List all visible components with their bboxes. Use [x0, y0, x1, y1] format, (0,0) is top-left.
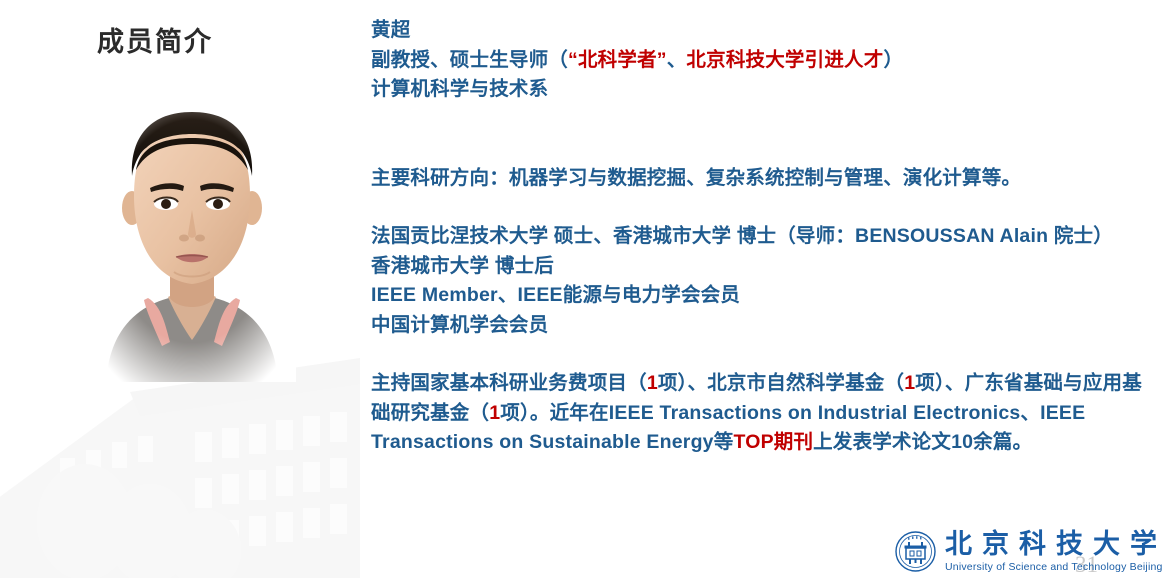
education-line-2: 香港城市大学 博士后	[371, 252, 1161, 282]
research-directions: 主要科研方向：机器学习与数据挖掘、复杂系统控制与管理、演化计算等。	[371, 164, 1161, 194]
projects-and-publications: 主持国家基本科研业务费项目（1项）、北京市自然科学基金（1项）、广东省基础与应用…	[371, 369, 1161, 458]
membership-line-2: 中国计算机学会会员	[371, 311, 1161, 341]
projects-text-1: 主持国家基本科研业务费项目（	[371, 372, 647, 394]
university-logo: 北京科技大学 University of Science and Technol…	[895, 531, 1167, 573]
top-journal-highlight: TOP期刊	[733, 431, 813, 453]
page-title: 成员简介	[97, 26, 213, 58]
campus-building-watermark	[0, 354, 360, 578]
profile-title-prefix: 副教授、硕士生导师（	[371, 49, 568, 71]
project-count-3: 1	[489, 402, 500, 424]
projects-text-2: 项）、北京市自然科学基金（	[658, 372, 904, 394]
project-count-1: 1	[647, 372, 658, 394]
education-line-1: 法国贡比涅技术大学 硕士、香港城市大学 博士（导师：BENSOUSSAN Ala…	[371, 222, 1161, 252]
spacer-2	[371, 193, 1161, 222]
spacer-3	[371, 340, 1161, 369]
university-name-cn: 北京科技大学	[945, 531, 1167, 558]
university-seal-icon	[895, 531, 936, 572]
avatar	[88, 92, 296, 382]
slide-root: 成员简介	[0, 0, 1175, 578]
project-count-2: 1	[904, 372, 915, 394]
profile-department: 计算机科学与技术系	[371, 75, 1161, 105]
profile-title-highlight-1: “北科学者”	[568, 49, 667, 71]
membership-line-1: IEEE Member、IEEE能源与电力学会会员	[371, 281, 1161, 311]
university-logo-text: 北京科技大学 University of Science and Technol…	[945, 531, 1167, 573]
profile-title-highlight-2: 北京科技大学引进人才	[686, 49, 883, 71]
spacer-1	[371, 105, 1161, 164]
profile-title-mid: 、	[667, 49, 687, 71]
university-name-en: University of Science and Technology Bei…	[945, 562, 1167, 573]
projects-text-5: 上发表学术论文10余篇。	[813, 431, 1032, 453]
profile-title-suffix: ）	[883, 49, 903, 71]
profile-name: 黄超	[371, 16, 1161, 46]
profile-title-line: 副教授、硕士生导师（“北科学者”、北京科技大学引进人才）	[371, 46, 1161, 76]
profile-content: 黄超 副教授、硕士生导师（“北科学者”、北京科技大学引进人才） 计算机科学与技术…	[371, 16, 1161, 458]
